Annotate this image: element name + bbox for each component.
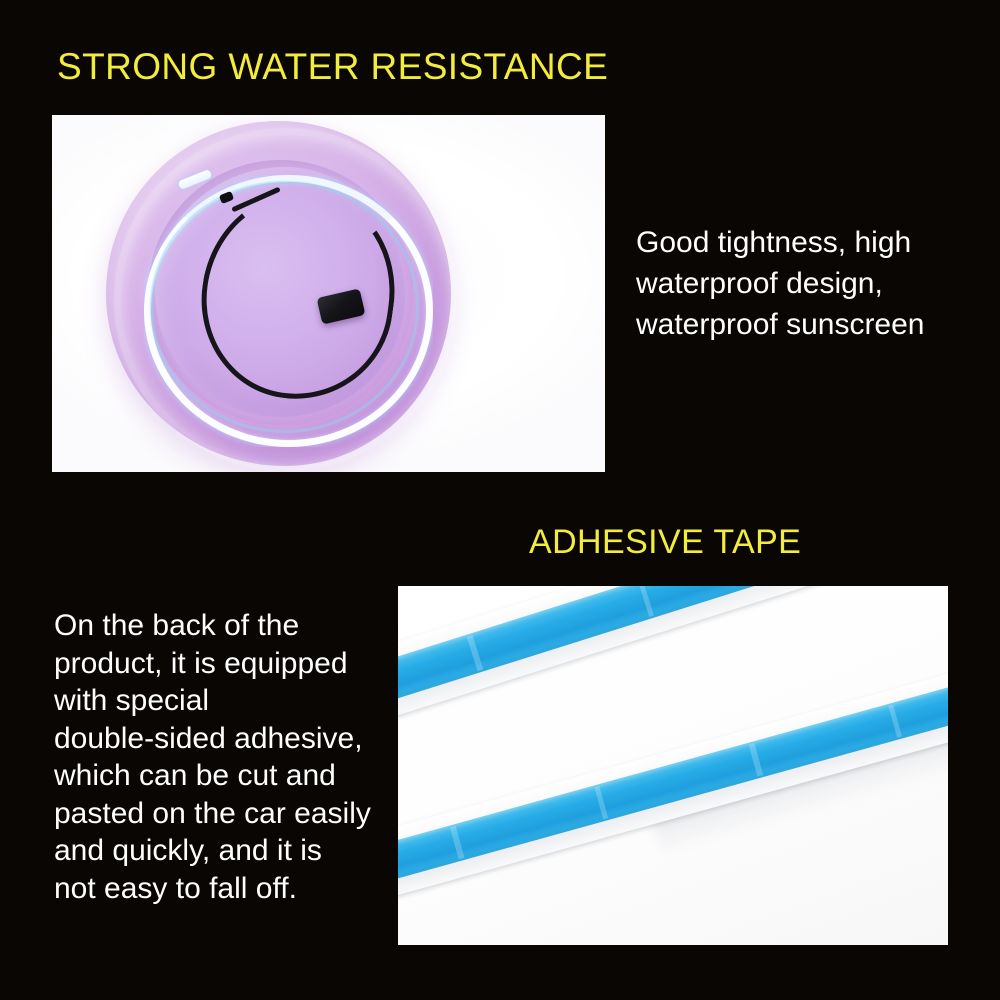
wire-strand	[371, 313, 448, 440]
tape-photo-stage	[398, 586, 948, 945]
product-feature-poster: STRONG WATER RESISTANCE Good tightn	[0, 0, 1000, 1000]
tape-wrinkle	[749, 743, 764, 776]
tape-wrinkle	[467, 635, 484, 671]
water-resistance-heading: STRONG WATER RESISTANCE	[57, 48, 608, 85]
tape-wrinkle	[594, 786, 608, 819]
adhesive-tape-photo	[398, 586, 948, 945]
adhesive-tape-heading: ADHESIVE TAPE	[529, 525, 801, 559]
water-resistance-photo	[52, 115, 605, 472]
tape-wrinkle	[888, 705, 902, 738]
multicolour-wire-bundle	[352, 301, 432, 436]
adhesive-tape-description: On the back of the product, it is equipp…	[54, 607, 404, 907]
blue-adhesive-backing	[398, 586, 948, 709]
tape-wrinkle	[638, 586, 654, 617]
bowl-photo-stage	[52, 115, 605, 472]
tape-wrinkle	[450, 826, 465, 859]
water-resistance-description: Good tightness, high waterproof design, …	[636, 222, 966, 345]
